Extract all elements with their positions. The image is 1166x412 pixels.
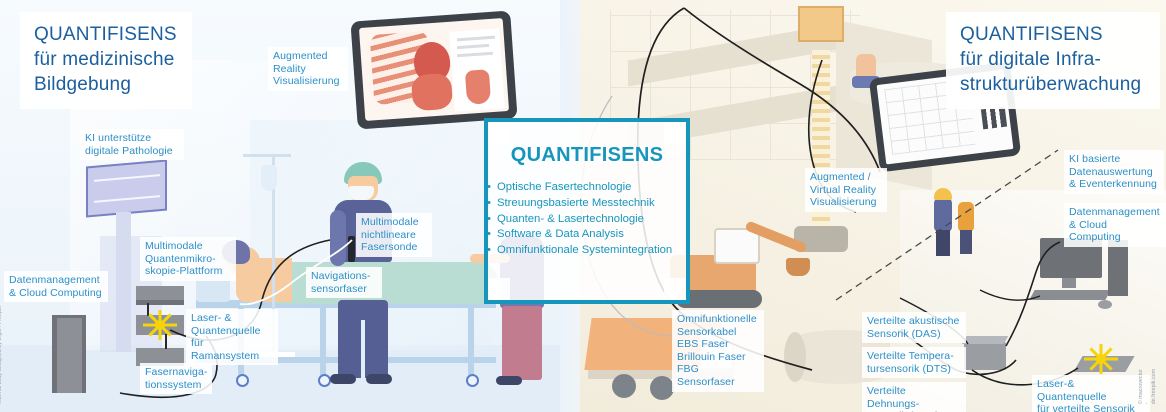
- iv-bag: [261, 165, 277, 191]
- corner-bracket-top-left: [484, 118, 510, 144]
- desktop-tower: [1108, 240, 1128, 296]
- label-ar-vr-visualisierung: Augmented / Virtual Reality Visualisieru…: [805, 168, 887, 212]
- credit-left: © pch.vector - de. freepik.com Internal …: [0, 306, 4, 404]
- interrogator-box: [964, 342, 1006, 370]
- bed-leg-mid: [320, 307, 326, 375]
- corner-bracket-top-right: [664, 118, 690, 144]
- bed-wheel-left: [236, 374, 249, 387]
- laser-starburst-icon-right: [1084, 344, 1118, 374]
- headline-left: QUANTIFISENS für medizinische Bildgebung: [20, 12, 192, 109]
- desktop-monitor-stand: [1062, 278, 1076, 288]
- corner-bracket-bottom-right: [664, 278, 690, 304]
- headline-right: QUANTIFISENS für digitale Infra- struktu…: [946, 12, 1160, 109]
- label-sensorik-das: Verteilte akustische Sensorik (DAS): [862, 312, 966, 343]
- anatomy-organ: [411, 73, 453, 112]
- infographic-canvas: QUANTIFISENS Optische Fasertechnologie S…: [0, 0, 1166, 412]
- feature-item-optische-fasertechnologie: Optische Fasertechnologie: [486, 180, 698, 196]
- pathology-monitor-screen: [86, 159, 167, 217]
- label-ki-pathologie: KI unterstütze digitale Pathologie: [80, 129, 184, 160]
- laser-starburst-icon-left: [143, 310, 177, 340]
- iv-bar: [243, 154, 291, 157]
- microscope-module-top-shadow: [136, 300, 184, 305]
- surgeon-shoe-left: [330, 374, 356, 384]
- assistant-shoe: [496, 376, 522, 385]
- crane-cab: [798, 6, 844, 42]
- surgeon-leg-gap: [361, 320, 365, 378]
- surgeon-arm: [330, 210, 346, 266]
- worker-standing-helmet: [934, 188, 952, 200]
- center-box-feature-list: Optische Fasertechnologie Streuungsbasie…: [486, 180, 698, 259]
- desktop-mouse: [1098, 300, 1112, 309]
- label-datenmanagement-links: Datenmanagement & Cloud Computing: [4, 271, 108, 302]
- buried-pipe-end: [784, 332, 806, 382]
- feature-item-omnifunktionale-systemintegration: Omnifunktionale Systemintegration: [486, 243, 698, 259]
- center-feature-box: QUANTIFISENS Optische Fasertechnologie S…: [484, 118, 690, 304]
- assistant-legs: [502, 306, 542, 380]
- dump-truck-wheel-2: [650, 376, 674, 400]
- label-sensorik-dss: Verteilte Dehnungs- sensorik (DSS): [862, 382, 966, 412]
- dump-truck-wheel-1: [612, 374, 636, 398]
- server-cabinet-face: [57, 318, 82, 393]
- label-datenmanagement-rechts: Datenmanagement & Cloud Computing: [1064, 203, 1166, 247]
- credit-right: © macrovector - de.freepik.com: [1138, 369, 1157, 404]
- label-fasersonde: Multimodale nichtlineare Fasersonde: [356, 213, 432, 257]
- fiber-probe-device: [348, 236, 355, 262]
- surgeon-mask: [348, 186, 374, 200]
- label-ki-datenauswertung: KI basierte Datenauswertung & Eventerken…: [1064, 150, 1164, 194]
- label-laser-verteilte-sensorik: Laser-& Quantenquelle für verteilte Sens…: [1032, 375, 1150, 412]
- worker-standing-legs: [936, 230, 950, 256]
- interrogator-box-top: [962, 336, 1009, 344]
- worker-second-body: [958, 202, 974, 232]
- ar-tablet-bar-chart: [981, 107, 1007, 130]
- worker-second-legs: [960, 230, 972, 254]
- label-navigationssensorfaser: Navigations- sensorfaser: [306, 267, 382, 298]
- anatomy-thumbnail: [465, 69, 491, 105]
- excavator-bucket: [786, 258, 810, 276]
- label-laser-ramansystem: Laser- & Quantenquelle für Ramansystem: [186, 309, 278, 365]
- worker-standing-body: [934, 198, 952, 232]
- label-ar-visualisierung: Augmented Reality Visualisierung: [268, 47, 348, 91]
- desktop-keyboard: [1029, 290, 1110, 300]
- label-sensorkabel: Omnifunktionelle Sensorkabel EBS Faser B…: [672, 310, 764, 392]
- bed-wheel-right: [466, 374, 479, 387]
- bed-wheel-mid: [318, 374, 331, 387]
- label-fasernavigationssystem: Fasernaviga- tionssystem: [140, 363, 212, 394]
- bed-leg-right: [468, 307, 474, 375]
- surgeon-shoe-right: [366, 374, 392, 384]
- corner-bracket-bottom-left: [484, 278, 510, 304]
- label-sensorik-dts: Verteilte Tempera- tursensorik (DTS): [862, 347, 966, 378]
- feature-item-streuungsbasierte-messtechnik: Streuungsbasierte Messtechnik: [486, 196, 698, 212]
- center-box-title: QUANTIFISENS: [488, 144, 686, 167]
- feature-item-quanten-lasertechnologie: Quanten- & Lasertechnologie: [486, 212, 698, 228]
- label-quantenmikroskopie: Multimodale Quantenmikro- skopie-Plattfo…: [140, 237, 236, 281]
- feature-item-software-data-analysis: Software & Data Analysis: [486, 227, 698, 243]
